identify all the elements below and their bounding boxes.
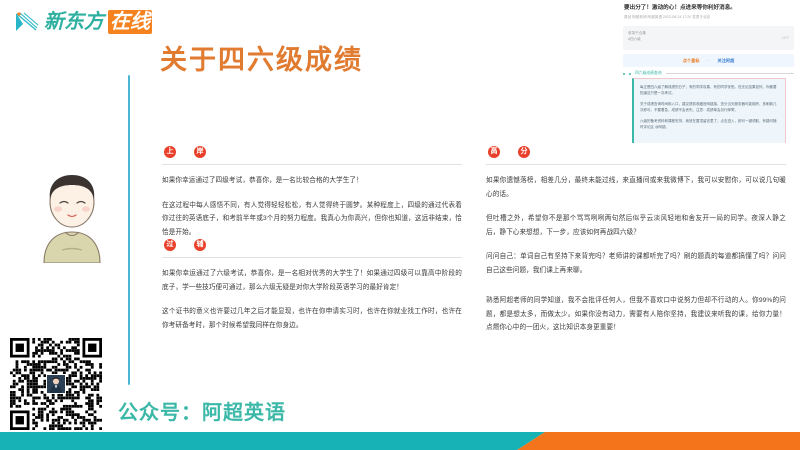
article-actions-bar: 点个星标 ··· 关注阿超 bbox=[623, 54, 794, 67]
collection-card[interactable]: 收录于合集 #四六级 10个 bbox=[623, 26, 794, 50]
collection-label: 收录于合集 #四六级 bbox=[628, 30, 646, 42]
section-gaofen: 高 分 如果你遗憾落榜，相差几分，最终未能过线，来直播间或来我微博下，我可以安慰… bbox=[486, 146, 786, 335]
follow-action-link[interactable]: 关注阿超 bbox=[718, 58, 735, 64]
paragraph: 问问自己：单词自己有坚持下来背完吗？老师讲的课都听完了吗？刷的题真的每道都搞懂了… bbox=[486, 250, 786, 277]
paragraph: 但吐槽之外，希望你不是那个骂骂咧咧两句然后似乎云淡风轻地和舍友开一局的同学。夜深… bbox=[486, 212, 786, 239]
heading-rule bbox=[666, 73, 794, 74]
badge-char: 过 bbox=[164, 239, 176, 251]
content-column-right: 高 分 如果你遗憾落榜，相差几分，最终未能过线，来直播间或来我微博下，我可以安慰… bbox=[486, 146, 786, 335]
section-shangan: 上 岸 如果你幸运通过了四级考试，恭喜你，是一名比较合格的大学生了！ 在这过程中… bbox=[162, 146, 462, 239]
section-badges: 高 分 bbox=[488, 146, 786, 158]
section-divider bbox=[162, 164, 462, 165]
wechat-article-screenshot: 要出分了！激动的心！点进来等你利好消息。 原创 阿超老师 阿超英语 2023-0… bbox=[592, 0, 800, 143]
dots-separator: ··· bbox=[707, 58, 711, 63]
quote-paragraph: 六级的备考资料和课程安排，我放在置顶留言里了，点击进入，即可一键领取，有疑问随时… bbox=[640, 118, 779, 130]
quote-paragraph: 每正是四六级了解成绩的日子，有的同学欢喜，有的同学忧愁。但无论结果如何，你都要知… bbox=[640, 84, 779, 96]
qr-center-avatar bbox=[46, 374, 66, 394]
paragraph: 这个证书的意义也许要过几年之后才能显现，也许在你申请实习时，也许在你就业找工作时… bbox=[162, 305, 462, 332]
logo-text-accent: 在线 bbox=[108, 10, 152, 34]
article-meta: 原创 阿超老师 阿超英语 2023-08-24 17:20 发表于北京 bbox=[624, 14, 794, 20]
page-title: 关于四六级成绩 bbox=[160, 42, 363, 78]
wechat-account-label: 公众号：阿超英语 bbox=[118, 400, 286, 426]
section-divider bbox=[486, 164, 786, 165]
brand-logo: 新东方 在线 bbox=[14, 10, 152, 34]
paragraph: 如果你幸运通过了六级考试，恭喜你，是一名相对优秀的大学生了！如果通过四级可以靠高… bbox=[162, 267, 462, 294]
paragraph: 如果你遗憾落榜，相差几分，最终未能过线，来直播间或来我微博下，我可以安慰你，可以… bbox=[486, 174, 786, 201]
quote-block: 每正是四六级了解成绩的日子，有的同学欢喜，有的同学忧愁。但无论结果如何，你都要知… bbox=[632, 78, 786, 143]
section-guoguan: 过 辅 如果你幸运通过了六级考试，恭喜你，是一名相对优秀的大学生了！如果通过四级… bbox=[162, 239, 462, 332]
subsection-title: 四六级成绩查询 bbox=[635, 71, 662, 76]
paragraph: 熟悉阿超老师的同学知道，我不会批评任何人，但我不喜欢口中说努力但却不行动的人。你… bbox=[486, 294, 786, 335]
student-avatar-illustration bbox=[22, 158, 122, 263]
collection-count: 10个 bbox=[782, 35, 789, 40]
pencil-logo-icon bbox=[14, 10, 40, 34]
badge-char: 分 bbox=[518, 146, 530, 158]
quote-paragraph: 关于成绩查询时间和入口，建议提前收藏官网链接，查分当天服务器可能拥挤，多刷新几次… bbox=[640, 101, 779, 113]
bullet-dot-icon bbox=[623, 73, 625, 75]
footer-bar-teal bbox=[0, 432, 545, 450]
badge-char: 辅 bbox=[194, 239, 206, 251]
section-badges: 过 辅 bbox=[164, 239, 462, 251]
star-action-link[interactable]: 点个星标 bbox=[683, 58, 700, 64]
bullet-dot-icon bbox=[629, 73, 631, 75]
vertical-divider-left bbox=[128, 75, 130, 385]
paragraph: 在这过程中每人感悟不同，有人觉得轻轻松松，有人觉得终于圆梦。某种程度上，四级的通… bbox=[162, 199, 462, 240]
section-badges: 上 岸 bbox=[164, 146, 462, 158]
badge-char: 高 bbox=[488, 146, 500, 158]
paragraph: 如果你幸运通过了四级考试，恭喜你，是一名比较合格的大学生了！ bbox=[162, 174, 462, 188]
subsection-heading: 四六级成绩查询 bbox=[623, 71, 794, 76]
footer-bar bbox=[0, 432, 800, 450]
section-divider bbox=[162, 257, 462, 258]
badge-char: 岸 bbox=[194, 146, 206, 158]
content-column-left: 上 岸 如果你幸运通过了四级考试，恭喜你，是一名比较合格的大学生了！ 在这过程中… bbox=[162, 146, 462, 332]
wechat-qr-code[interactable] bbox=[10, 338, 102, 430]
article-title: 要出分了！激动的心！点进来等你利好消息。 bbox=[624, 4, 794, 12]
badge-char: 上 bbox=[164, 146, 176, 158]
logo-text-primary: 新东方 bbox=[44, 10, 104, 34]
